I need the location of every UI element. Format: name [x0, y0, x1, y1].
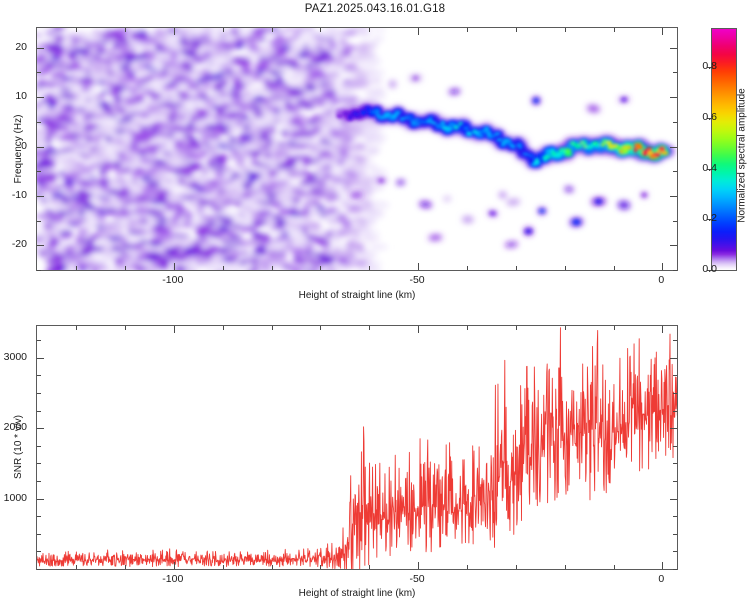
spectrogram-tick	[670, 48, 677, 49]
snr-y-tick-label: 3000	[0, 351, 27, 363]
snr-tick	[37, 516, 41, 517]
snr-tick	[320, 565, 321, 569]
snr-tick	[418, 562, 419, 569]
spectrogram-tick	[614, 266, 615, 270]
snr-tick	[673, 375, 677, 376]
snr-tick	[174, 562, 175, 569]
snr-x-tick-label: -100	[162, 573, 183, 585]
spectrogram-tick	[670, 245, 677, 246]
spectrogram-image	[37, 28, 677, 270]
spectrogram-tick	[418, 263, 419, 270]
spectrogram-tick	[76, 266, 77, 270]
snr-tick	[320, 326, 321, 330]
spectrogram-tick	[673, 221, 677, 222]
spectrogram-tick	[223, 28, 224, 32]
snr-tick	[37, 551, 41, 552]
snr-tick	[37, 428, 44, 429]
spectrogram-tick	[37, 122, 41, 123]
spectrogram-tick	[37, 171, 41, 172]
snr-x-tick-label: -50	[409, 573, 424, 585]
snr-trace	[37, 326, 677, 569]
spectrogram-x-axis-title: Height of straight line (km)	[299, 290, 416, 301]
spectrogram-tick	[418, 28, 419, 35]
spectrogram-tick	[125, 28, 126, 32]
spectrogram-tick	[37, 48, 44, 49]
spectrogram-tick	[670, 147, 677, 148]
colorbar-title: Normalized spectral amplitude	[737, 88, 748, 223]
spectrogram-y-tick-label: 10	[0, 90, 27, 102]
snr-tick	[37, 411, 41, 412]
snr-tick	[37, 463, 41, 464]
snr-tick	[673, 411, 677, 412]
spectrogram-tick	[673, 270, 677, 271]
snr-tick	[272, 326, 273, 330]
snr-tick	[670, 499, 677, 500]
snr-tick	[565, 326, 566, 330]
spectrogram-tick	[37, 221, 41, 222]
spectrogram-tick	[516, 28, 517, 32]
spectrogram-x-tick-label: -100	[162, 274, 183, 286]
spectrogram-tick	[662, 28, 663, 35]
spectrogram-tick	[369, 28, 370, 32]
snr-tick	[125, 326, 126, 330]
spectrogram-tick	[467, 266, 468, 270]
snr-tick	[673, 569, 677, 570]
snr-tick	[614, 326, 615, 330]
spectrogram-tick	[37, 97, 44, 98]
spectrogram-panel	[36, 27, 678, 271]
snr-x-tick-label: 0	[658, 573, 664, 585]
spectrogram-x-tick-label: -50	[409, 274, 424, 286]
snr-tick	[673, 393, 677, 394]
spectrogram-tick	[37, 270, 41, 271]
spectrogram-tick	[76, 28, 77, 32]
spectrogram-tick	[516, 266, 517, 270]
snr-tick	[614, 565, 615, 569]
snr-tick	[467, 326, 468, 330]
spectrogram-tick	[670, 97, 677, 98]
snr-tick	[516, 326, 517, 330]
snr-tick	[125, 565, 126, 569]
snr-tick	[37, 446, 41, 447]
snr-tick	[223, 326, 224, 330]
spectrogram-tick	[670, 196, 677, 197]
snr-tick	[37, 534, 41, 535]
snr-tick	[37, 569, 41, 570]
snr-tick	[662, 562, 663, 569]
colorbar-tick-label: 0.6	[702, 111, 717, 123]
snr-tick	[467, 565, 468, 569]
snr-tick	[673, 516, 677, 517]
spectrogram-tick	[369, 266, 370, 270]
colorbar-tick-label: 0.8	[702, 60, 717, 72]
colorbar-tick-label: 0.2	[702, 212, 717, 224]
spectrogram-tick	[272, 28, 273, 32]
spectrogram-tick	[174, 28, 175, 35]
snr-panel	[36, 325, 678, 570]
spectrogram-tick	[673, 122, 677, 123]
spectrogram-tick	[662, 263, 663, 270]
spectrogram-tick	[673, 171, 677, 172]
spectrogram-tick	[37, 245, 44, 246]
spectrogram-tick	[125, 266, 126, 270]
snr-tick	[37, 358, 44, 359]
snr-tick	[673, 534, 677, 535]
spectrogram-tick	[37, 72, 41, 73]
snr-tick	[673, 340, 677, 341]
snr-y-axis-title: SNR (10 * v/v)	[13, 415, 24, 479]
spectrogram-y-tick-label: -20	[0, 238, 27, 250]
spectrogram-tick	[272, 266, 273, 270]
snr-tick	[76, 565, 77, 569]
snr-tick	[418, 326, 419, 333]
snr-tick	[223, 565, 224, 569]
snr-tick	[272, 565, 273, 569]
snr-tick	[673, 481, 677, 482]
snr-tick	[565, 565, 566, 569]
snr-tick	[37, 481, 41, 482]
snr-y-tick-label: 1000	[0, 492, 27, 504]
snr-tick	[174, 326, 175, 333]
spectrogram-y-tick-label: -10	[0, 189, 27, 201]
spectrogram-y-tick-label: 20	[0, 41, 27, 53]
snr-tick	[673, 446, 677, 447]
spectrogram-canvas	[37, 28, 677, 270]
snr-tick	[37, 499, 44, 500]
snr-tick	[369, 326, 370, 330]
snr-tick	[670, 428, 677, 429]
spectrogram-tick	[320, 266, 321, 270]
spectrogram-tick	[673, 72, 677, 73]
snr-tick	[673, 551, 677, 552]
snr-tick	[76, 326, 77, 330]
snr-tick	[37, 375, 41, 376]
colorbar-tick-label: 0.4	[702, 162, 717, 174]
figure-root: PAZ1.2025.043.16.01.G18	[0, 0, 750, 600]
spectrogram-tick	[467, 28, 468, 32]
snr-x-axis-title: Height of straight line (km)	[299, 588, 416, 599]
snr-tick	[662, 326, 663, 333]
snr-tick	[673, 463, 677, 464]
spectrogram-y-axis-title: Frequency (Hz)	[13, 115, 24, 184]
colorbar-tick-label: 0.0	[702, 263, 717, 275]
snr-canvas	[37, 326, 677, 569]
spectrogram-tick	[174, 263, 175, 270]
spectrogram-x-tick-label: 0	[658, 274, 664, 286]
spectrogram-tick	[223, 266, 224, 270]
spectrogram-tick	[614, 28, 615, 32]
spectrogram-tick	[37, 196, 44, 197]
spectrogram-tick	[37, 147, 44, 148]
snr-tick	[670, 358, 677, 359]
spectrogram-tick	[320, 28, 321, 32]
spectrogram-tick	[565, 28, 566, 32]
snr-tick	[37, 340, 41, 341]
snr-tick	[37, 393, 41, 394]
snr-tick	[369, 565, 370, 569]
snr-tick	[516, 565, 517, 569]
spectrogram-tick	[565, 266, 566, 270]
page-title: PAZ1.2025.043.16.01.G18	[0, 3, 750, 15]
